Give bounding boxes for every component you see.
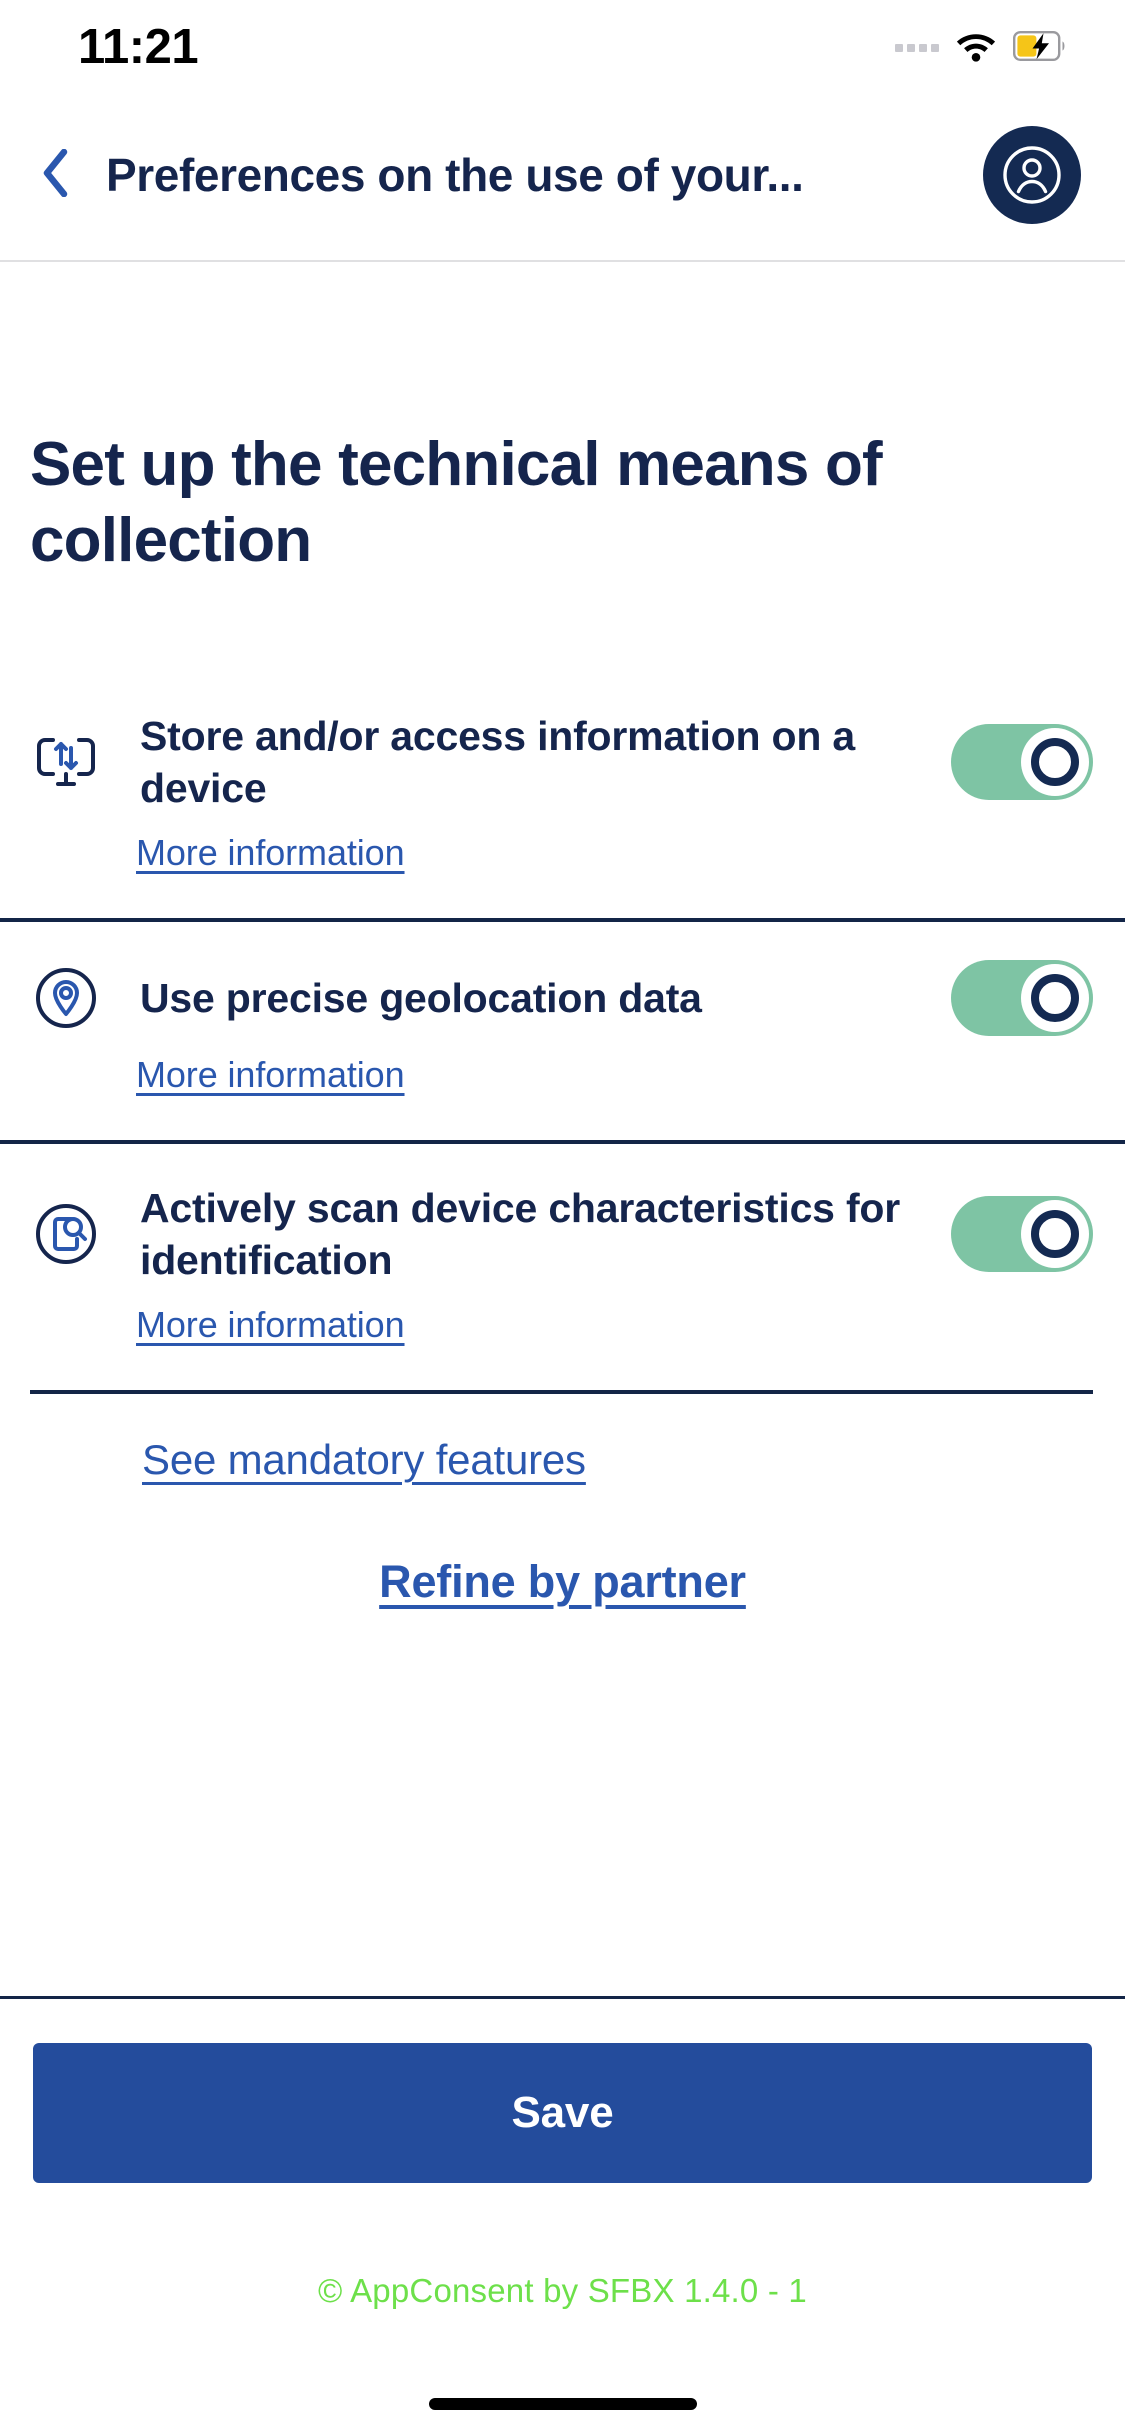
- see-mandatory-features-link[interactable]: See mandatory features: [142, 1436, 586, 1484]
- purpose-row: Use precise geolocation data More inform…: [0, 918, 1125, 1140]
- more-information-link[interactable]: More information: [136, 1304, 405, 1346]
- user-account-icon: [1001, 144, 1063, 206]
- purpose-label: Store and/or access information on a dev…: [98, 710, 951, 814]
- refine-by-partner-container: Refine by partner: [0, 1484, 1125, 1608]
- more-info-container: More information: [30, 1286, 1093, 1390]
- battery-charging-icon: [1013, 31, 1067, 66]
- status-bar-clock: 11:21: [78, 19, 198, 75]
- status-bar: 11:21: [0, 0, 1125, 90]
- purpose-toggle[interactable]: [951, 960, 1093, 1036]
- save-button[interactable]: Save: [33, 2043, 1092, 2183]
- chevron-left-icon: [42, 149, 68, 197]
- more-information-link[interactable]: More information: [136, 1054, 405, 1096]
- home-indicator[interactable]: [429, 2398, 697, 2410]
- app-header: Preferences on the use of your...: [0, 90, 1125, 262]
- purpose-row-main: Actively scan device characteristics for…: [30, 1144, 1093, 1286]
- purpose-row-main: Store and/or access information on a dev…: [30, 672, 1093, 814]
- toggle-knob: [1021, 728, 1089, 796]
- wifi-icon: [955, 30, 997, 67]
- toggle-knob: [1021, 1200, 1089, 1268]
- refine-by-partner-link[interactable]: Refine by partner: [379, 1556, 746, 1608]
- main-content: Set up the technical means of collection…: [0, 262, 1125, 1267]
- toggle-knob: [1021, 964, 1089, 1032]
- purpose-toggle[interactable]: [951, 1196, 1093, 1272]
- app-screen: 11:21: [0, 0, 1125, 2436]
- footer-bar: Save © AppConsent by SFBX 1.4.0 - 1: [0, 1996, 1125, 2436]
- more-info-container: More information: [30, 1036, 1093, 1140]
- status-bar-indicators: [895, 30, 1067, 67]
- section-heading: Set up the technical means of collection: [30, 427, 1010, 579]
- page-title: Preferences on the use of your...: [90, 148, 983, 202]
- more-info-container: More information: [30, 814, 1093, 918]
- location-pin-icon: [34, 966, 98, 1030]
- back-button[interactable]: [20, 138, 90, 208]
- purpose-toggle[interactable]: [951, 724, 1093, 800]
- device-data-transfer-icon: [34, 730, 98, 794]
- purpose-list: Store and/or access information on a dev…: [0, 672, 1125, 1608]
- account-button[interactable]: [983, 126, 1081, 224]
- signal-dots-icon: [895, 44, 939, 52]
- purpose-label: Use precise geolocation data: [98, 972, 951, 1024]
- purpose-label: Actively scan device characteristics for…: [98, 1182, 951, 1286]
- purpose-row: Store and/or access information on a dev…: [0, 672, 1125, 918]
- purpose-row-main: Use precise geolocation data: [30, 922, 1093, 1036]
- device-scan-icon: [34, 1202, 98, 1266]
- purpose-row: Actively scan device characteristics for…: [0, 1140, 1125, 1390]
- more-information-link[interactable]: More information: [136, 832, 405, 874]
- mandatory-features-container: See mandatory features: [0, 1394, 1125, 1484]
- copyright-text: © AppConsent by SFBX 1.4.0 - 1: [0, 2272, 1125, 2310]
